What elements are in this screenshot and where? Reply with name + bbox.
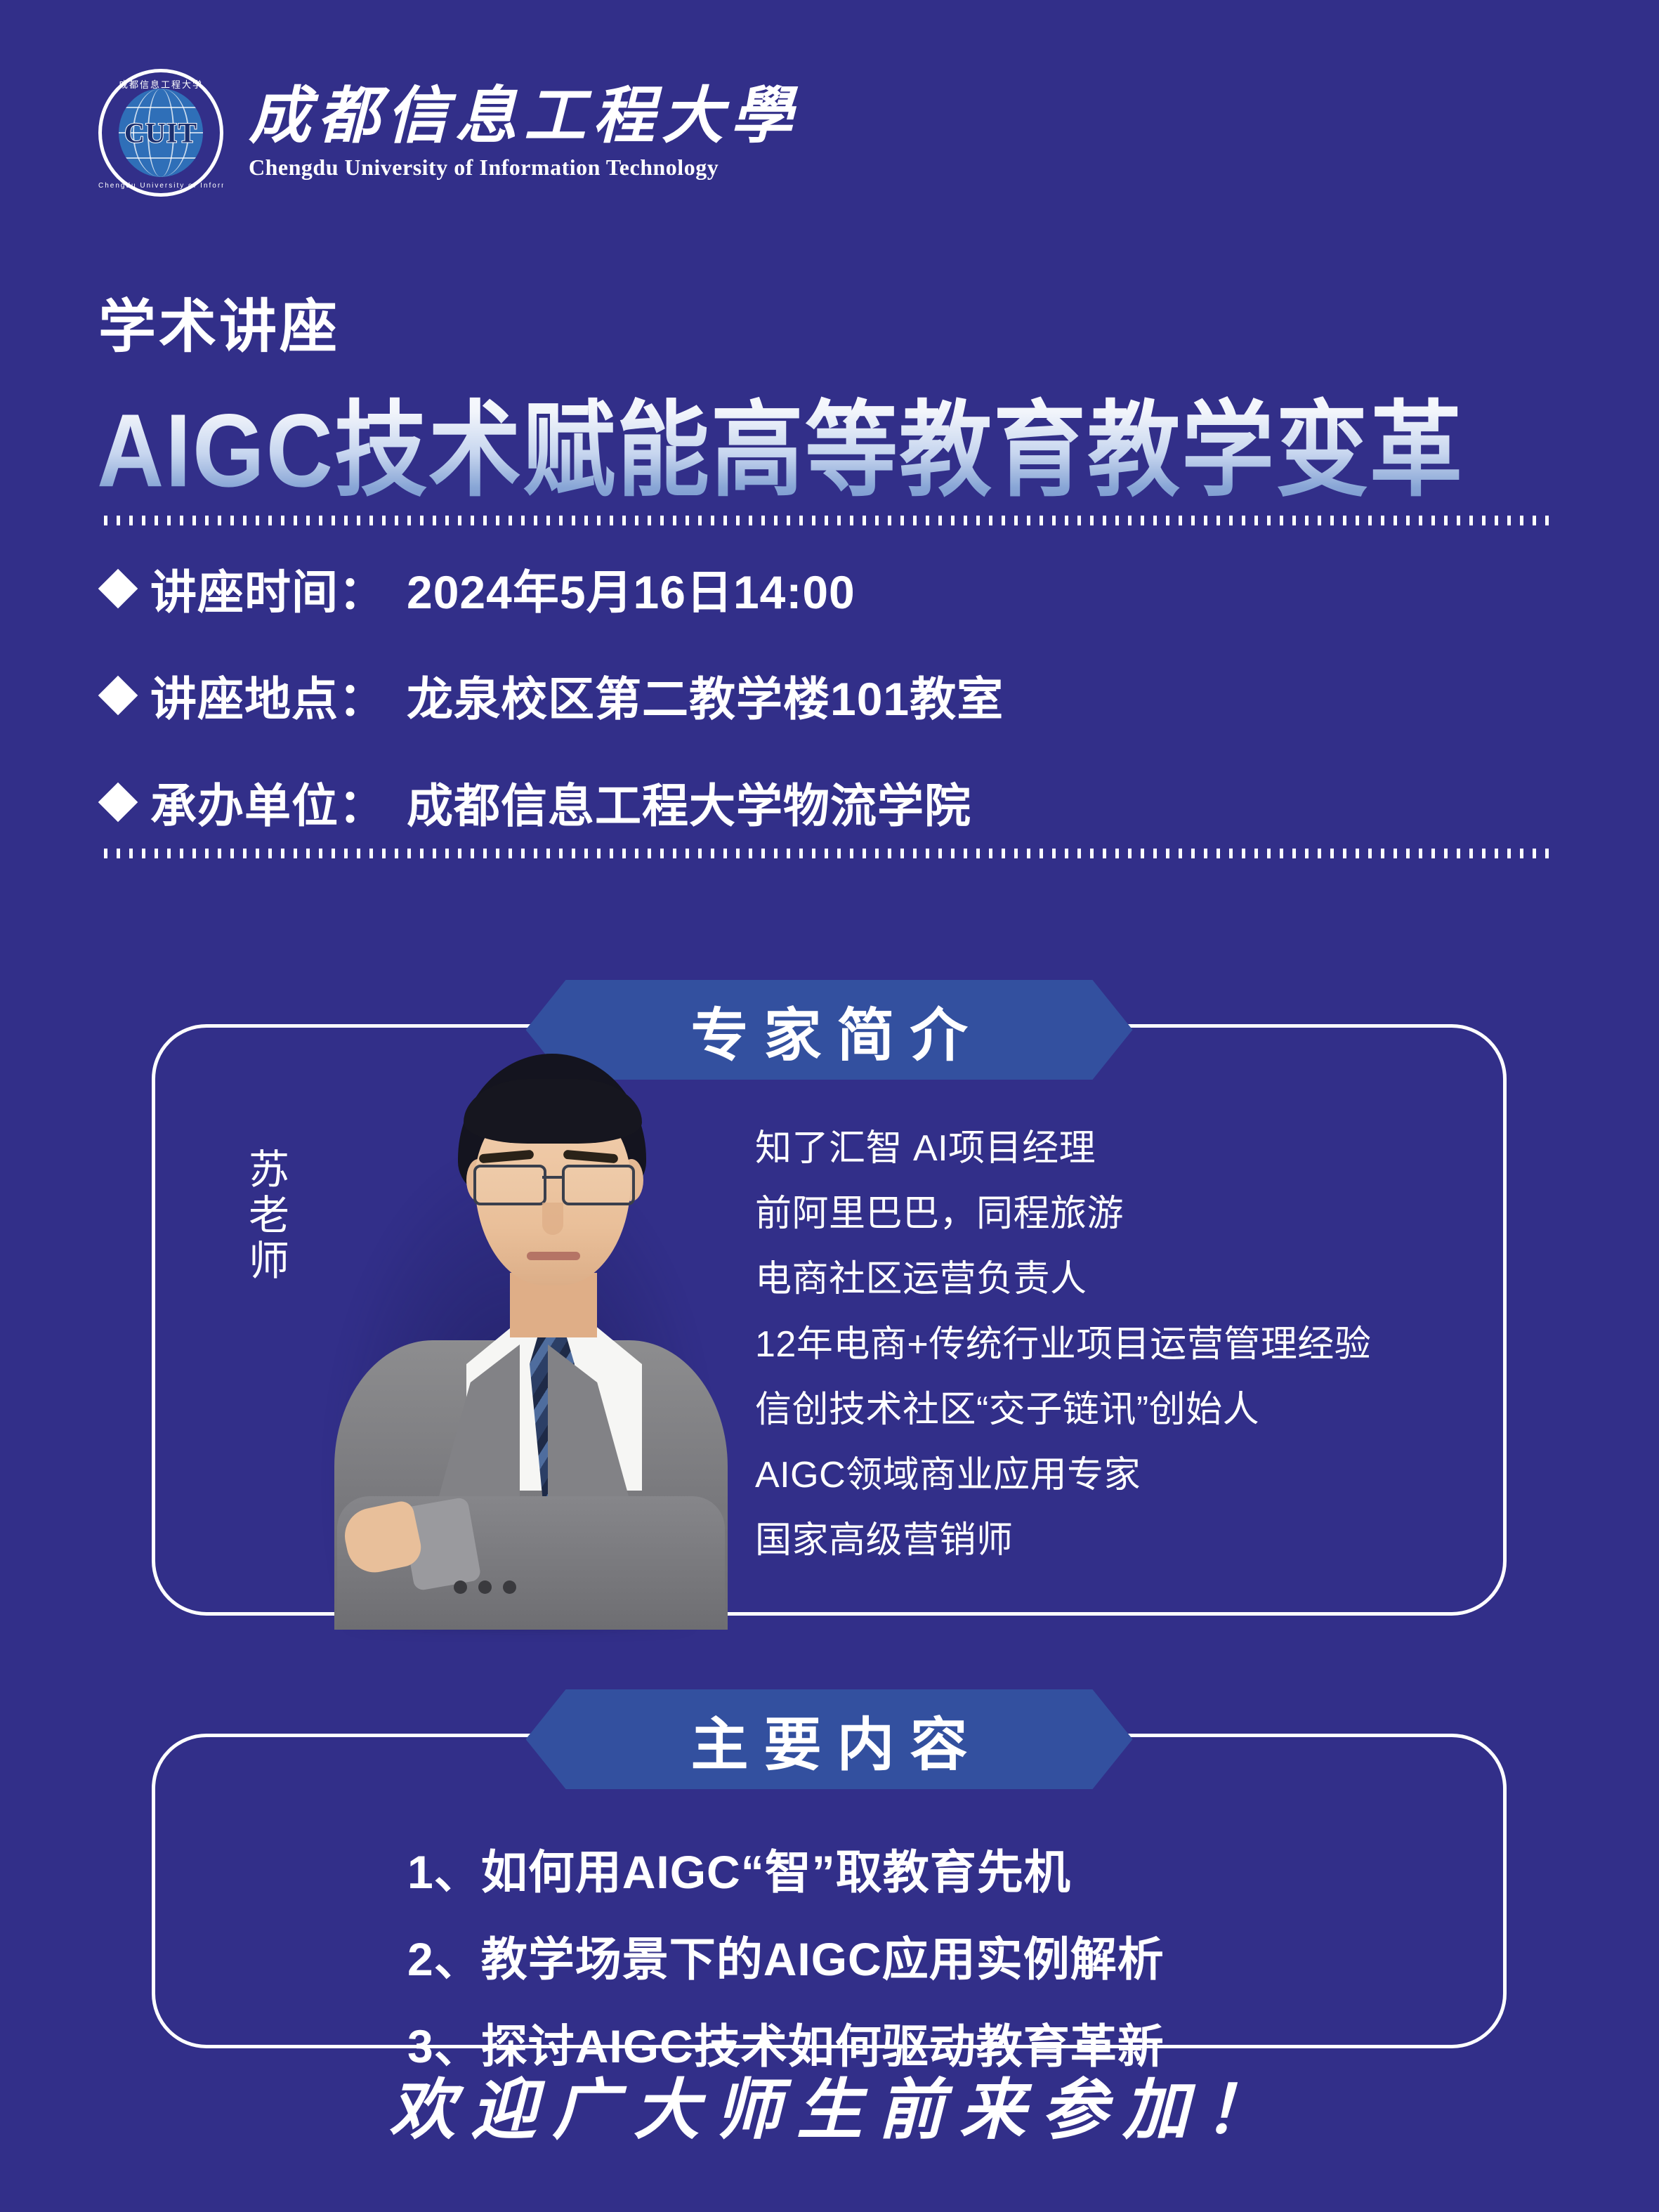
globe-latitude-line xyxy=(119,157,203,159)
seal-ring-text-bottom: Chengdu University of Information Techno… xyxy=(98,182,223,190)
bio-line: 电商社区运营负责人 xyxy=(755,1249,1371,1302)
content-section-title: 主要内容 xyxy=(675,1698,983,1781)
globe-latitude-line xyxy=(119,107,203,108)
welcome-footer: 欢迎广大师生前来参加！ xyxy=(0,2057,1659,2152)
info-value: 2024年5月16日14:00 xyxy=(407,555,855,622)
bio-line: 前阿里巴巴，同程旅游 xyxy=(755,1184,1371,1236)
expert-bio-list: 知了汇智 AI项目经理 前阿里巴巴，同程旅游 电商社区运营负责人 12年电商+传… xyxy=(755,1118,1371,1563)
info-value: 成都信息工程大学物流学院 xyxy=(407,768,971,836)
university-name-cn: 成都信息工程大學 xyxy=(249,85,799,150)
bio-line: 国家高级营销师 xyxy=(755,1510,1371,1563)
agenda-item: 2、教学场景下的AIGC应用实例解析 xyxy=(407,1922,1165,1989)
portrait-mouth xyxy=(527,1252,580,1260)
content-section-banner: 主要内容 xyxy=(526,1689,1133,1789)
diamond-bullet-icon xyxy=(98,676,138,716)
divider-top xyxy=(104,516,1554,525)
glasses-bridge xyxy=(542,1176,563,1179)
sleeve-button xyxy=(454,1581,467,1594)
portrait-fringe xyxy=(464,1079,642,1144)
speaker-portrait-photo xyxy=(295,1047,759,1630)
lecture-info-list: 讲座时间： 2024年5月16日14:00 讲座地点： 龙泉校区第二教学楼101… xyxy=(104,555,1004,836)
diamond-bullet-icon xyxy=(98,569,138,609)
agenda-item: 1、如何用AIGC“智”取教育先机 xyxy=(407,1835,1165,1902)
diamond-bullet-icon xyxy=(98,783,138,823)
university-name-en: Chengdu University of Information Techno… xyxy=(249,155,799,181)
cuit-seal-icon: 成都信息工程大学 CUIT Chengdu University of Info… xyxy=(98,69,223,197)
bio-line: AIGC领域商业应用专家 xyxy=(755,1445,1371,1498)
agenda-list: 1、如何用AIGC“智”取教育先机 2、教学场景下的AIGC应用实例解析 3、探… xyxy=(407,1835,1165,2076)
seal-ring-text-top: 成都信息工程大学 xyxy=(98,77,223,91)
expert-name-vertical: 苏老师 xyxy=(247,1148,291,1285)
info-label: 讲座地点： xyxy=(150,662,386,729)
portrait-sleeve-buttons xyxy=(454,1581,516,1594)
seal-abbr-text: CUIT xyxy=(98,117,223,150)
info-row-organizer: 承办单位： 成都信息工程大学物流学院 xyxy=(104,768,1004,836)
logo-wordmark: 成都信息工程大學 Chengdu University of Informati… xyxy=(249,85,799,180)
glasses-lens-left xyxy=(473,1165,546,1205)
lecture-poster: 成都信息工程大学 CUIT Chengdu University of Info… xyxy=(0,0,1659,2212)
portrait-glasses-icon xyxy=(469,1165,638,1201)
glasses-lens-right xyxy=(562,1165,635,1205)
info-label: 讲座时间： xyxy=(150,555,386,622)
divider-bottom xyxy=(104,849,1554,858)
info-row-time: 讲座时间： 2024年5月16日14:00 xyxy=(104,555,1004,622)
sleeve-button xyxy=(478,1581,492,1594)
kicker-label: 学术讲座 xyxy=(98,280,340,363)
sleeve-button xyxy=(503,1581,516,1594)
info-row-location: 讲座地点： 龙泉校区第二教学楼101教室 xyxy=(104,662,1004,729)
bio-line: 12年电商+传统行业项目运营管理经验 xyxy=(755,1314,1371,1367)
portrait-nose xyxy=(542,1203,563,1235)
info-value: 龙泉校区第二教学楼101教室 xyxy=(407,662,1004,729)
bio-line: 知了汇智 AI项目经理 xyxy=(755,1118,1371,1171)
bio-line: 信创技术社区“交子链讯”创始人 xyxy=(755,1380,1371,1432)
info-label: 承办单位： xyxy=(150,768,386,836)
page-title: AIGC技术赋能高等教育教学变革 xyxy=(97,367,1464,517)
university-logo: 成都信息工程大学 CUIT Chengdu University of Info… xyxy=(98,69,799,197)
